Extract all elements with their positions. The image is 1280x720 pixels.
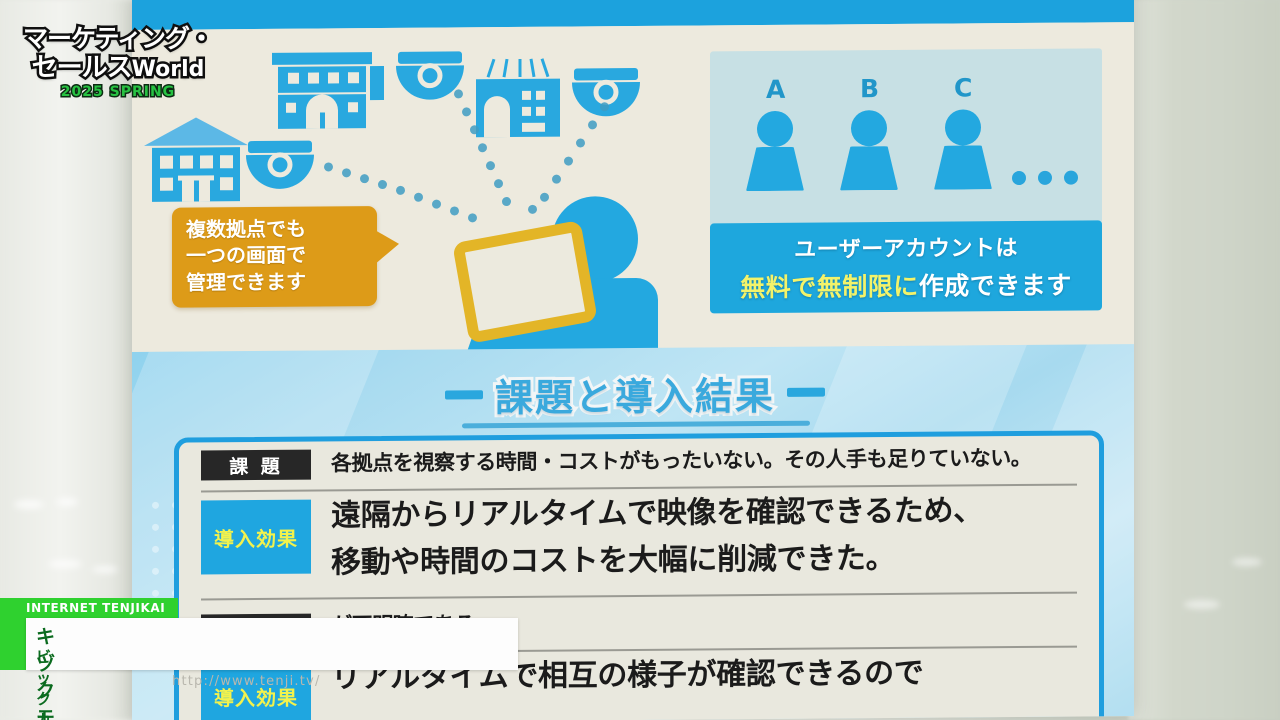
poster-upper-section: 複数拠点でも 一つの画面で 管理できます A B C <box>132 22 1134 352</box>
row-text: 遠隔からリアルタイムで映像を確認できるため、 移動や時間のコストを大幅に削減でき… <box>331 488 983 586</box>
table-row: 導入効果 遠隔からリアルタイムで映像を確認できるため、 移動や時間のコストを大幅… <box>179 435 1099 442</box>
table-row: 導入効果 リアルタイムで相互の様子が確認できるので <box>179 435 1099 442</box>
title-bar-left <box>445 390 483 399</box>
section-title-text: 課題と導入結果 <box>495 364 775 421</box>
lower-third-accent-bar <box>0 618 26 670</box>
logo-line-2-en: World <box>132 57 205 82</box>
section-title: 課題と導入結果 <box>400 362 870 424</box>
multi-site-bubble: 複数拠点でも 一つの画面で 管理できます <box>172 206 377 308</box>
bubble-line-3: 管理できます <box>186 268 367 296</box>
screenshot-stage: 複数拠点でも 一つの画面で 管理できます A B C <box>0 0 1280 720</box>
ellipsis-dots-icon <box>1012 171 1078 186</box>
table-row: 課 題 各拠点を視察する時間・コストがもったいない。その人手も足りていない。 <box>179 435 1099 442</box>
website-url: http://www.tenji.tv/ <box>172 674 321 689</box>
row-text-line-2: 移動や時間のコストを大幅に削減できた。 <box>331 535 983 587</box>
user-label-a: A <box>766 75 786 104</box>
company-name: ビックカメラグループ 株式会社ラネット <box>36 646 51 720</box>
row-text: 各拠点を視察する時間・コストがもったいない。その人手も足りていない。 <box>331 444 1031 478</box>
lower-third-tab: INTERNET TENJIKAI <box>0 598 178 618</box>
exhibition-poster: 複数拠点でも 一つの画面で 管理できます A B C <box>132 0 1134 720</box>
user-avatar-icon <box>934 109 992 193</box>
bubble-line-1: 複数拠点でも <box>186 215 367 243</box>
logo-line-2-jp: セールス <box>32 53 132 83</box>
row-badge-effect: 導入効果 <box>201 500 311 575</box>
account-caption-line-1: ユーザーアカウントは <box>794 230 1018 264</box>
user-label-c: C <box>954 73 973 102</box>
shop-building-icon <box>468 51 568 142</box>
user-avatar-icon <box>746 111 804 195</box>
right-wall <box>1128 0 1280 720</box>
user-avatar-icon <box>840 110 898 194</box>
row-text-line-1: 遠隔からリアルタイムで映像を確認できるため、 <box>331 488 983 540</box>
account-caption-highlight: 無料で無制限に <box>740 272 919 302</box>
row-badge-issue: 課 題 <box>201 450 311 481</box>
bubble-line-2: 一つの画面で <box>186 242 367 270</box>
table-row: 課 題 が不明瞭である。 <box>179 435 1099 442</box>
account-caption-banner: ユーザーアカウントは 無料で無制限に作成できます <box>710 220 1102 313</box>
account-caption-rest: 作成できます <box>919 271 1072 301</box>
broadcast-logo: マーケティング・ セールスWorld 2025 SPRING <box>18 26 218 99</box>
school-building-icon <box>270 42 386 137</box>
title-bar-right <box>787 387 825 396</box>
row-divider <box>201 592 1077 601</box>
logo-line-1: マーケティング・ <box>18 26 218 51</box>
house-building-icon <box>140 113 252 208</box>
user-label-b: B <box>860 74 880 103</box>
dome-camera-icon <box>244 139 316 192</box>
lower-third-panel <box>26 618 518 670</box>
logo-subtitle: 2025 SPRING <box>18 85 218 99</box>
